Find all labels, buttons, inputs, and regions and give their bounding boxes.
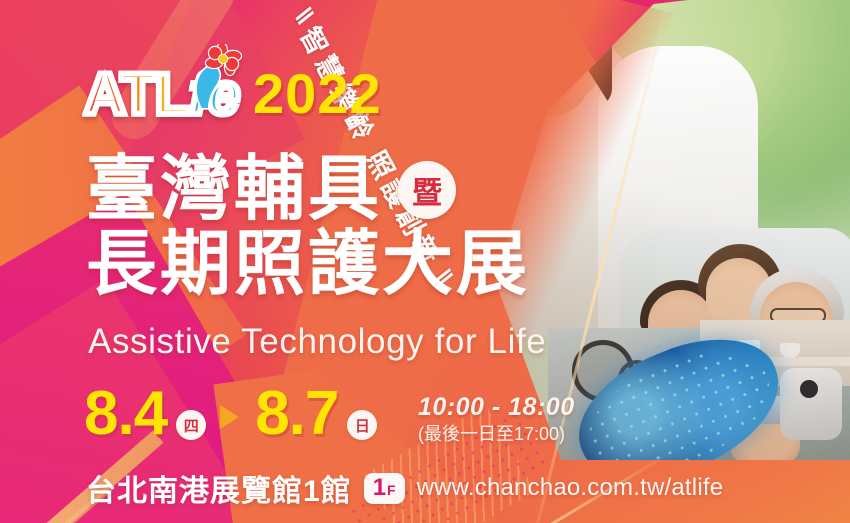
floor-unit: F xyxy=(387,483,396,497)
atlife-logo-at: ATL xyxy=(84,62,189,127)
floor-badge: 1 F xyxy=(364,473,405,504)
venue-name: 台北南港展覽館1館 xyxy=(86,466,352,510)
date-start: 8.4 xyxy=(84,383,167,445)
opening-hours-note: (最後一日至17:00) xyxy=(418,423,575,446)
atlife-2022-promo-banner: \\ 智慧樂齡 照護創新 \\ ATLfe 2022 xyxy=(0,0,850,523)
headline-line-1: 臺灣輔具 xyxy=(86,152,382,227)
date-end: 8.7 xyxy=(255,383,338,445)
opening-hours: 10:00 - 18:00 xyxy=(418,392,575,423)
event-year: 2022 xyxy=(253,66,382,124)
headline-line-2: 長期照護大展 xyxy=(86,227,530,302)
slogan-open-bars: \\ xyxy=(288,4,318,26)
decor-arrow-left xyxy=(0,237,47,325)
website-url[interactable]: www.chanchao.com.tw/atlife xyxy=(417,474,724,502)
hand-flower-icon xyxy=(184,44,246,110)
headline-subtitle-english: Assistive Technology for Life xyxy=(88,322,546,362)
headline-badge-ji: 暨 xyxy=(398,161,456,219)
venue-bar: 台北南港展覽館1館 1 F www.chanchao.com.tw/atlife xyxy=(86,466,723,510)
floor-number: 1 xyxy=(373,476,386,500)
opening-hours-block: 10:00 - 18:00 (最後一日至17:00) xyxy=(418,392,575,446)
date-start-weekday-badge: 四 xyxy=(176,410,206,440)
headline-line-1-row: 臺灣輔具 暨 xyxy=(86,152,530,227)
atlife-logo: ATLfe xyxy=(84,66,239,124)
date-range: 8.4 四 8.7 日 xyxy=(84,383,383,445)
logo-row: ATLfe 2022 xyxy=(84,66,382,124)
headline-block: 臺灣輔具 暨 長期照護大展 xyxy=(86,152,530,303)
date-end-weekday-badge: 日 xyxy=(347,410,377,440)
triangle-right-icon xyxy=(220,405,239,429)
